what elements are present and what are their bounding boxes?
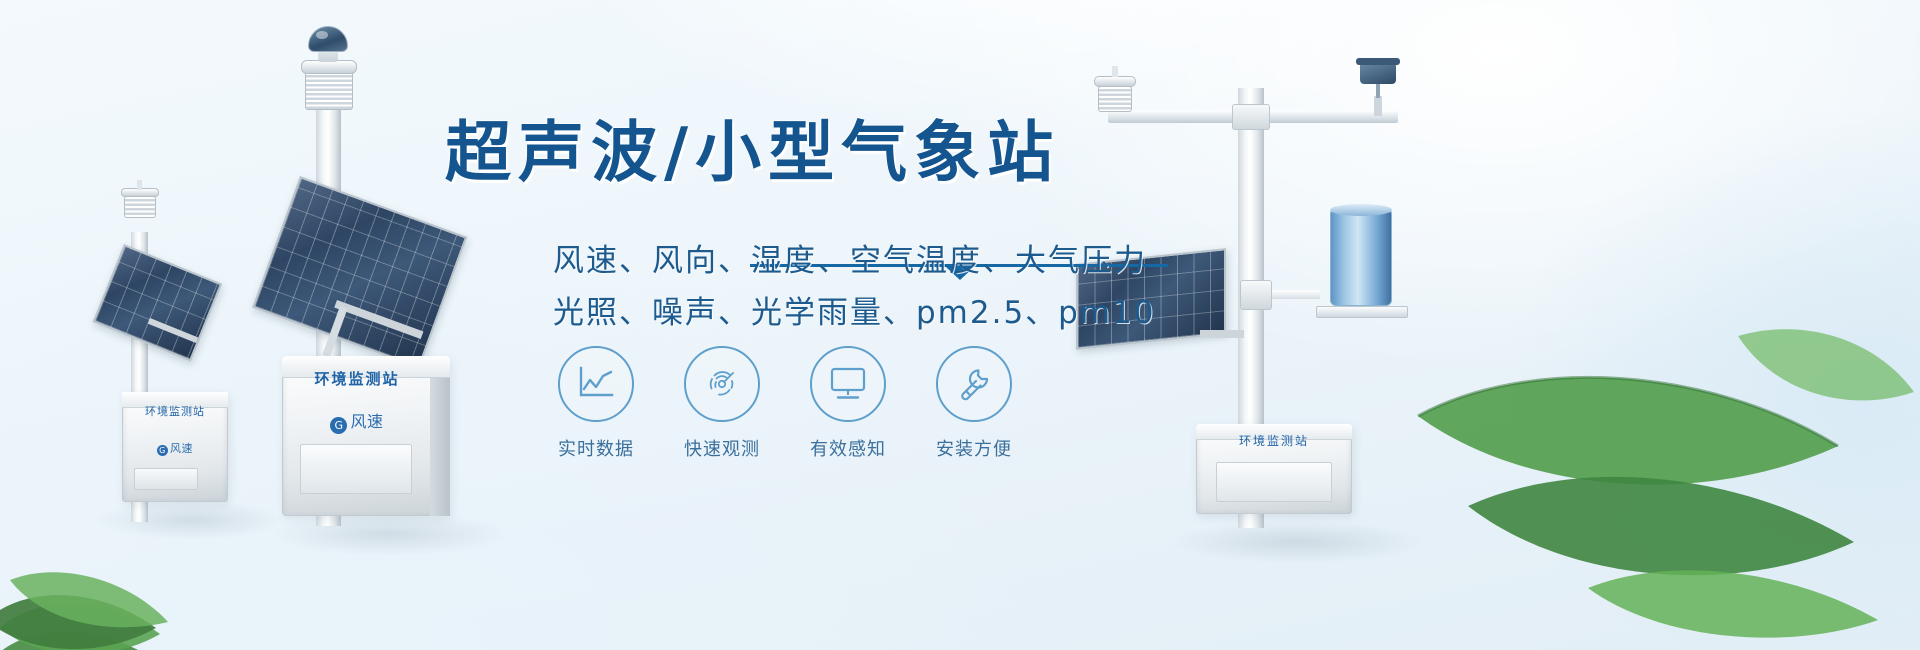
subtitle-line-2: 光照、噪声、光学雨量、pm2.5、pm10: [553, 287, 1156, 332]
line-chart-icon: [576, 365, 616, 403]
feature-item-effective-sensing[interactable]: 有效感知: [805, 346, 891, 466]
feature-icon-circle: [936, 346, 1012, 422]
feature-list: 实时数据: [553, 346, 1023, 466]
feature-item-fast-observation[interactable]: 快速观测: [679, 346, 765, 466]
feature-label: 实时数据: [558, 435, 634, 461]
feature-icon-circle: [684, 346, 760, 422]
monitor-icon: [827, 366, 869, 402]
content-column: 超声波/小型气象站 风速、风向、湿度、空气温度、大气压力 光照、噪声、光学雨量、…: [0, 0, 1920, 650]
feature-label: 快速观测: [684, 435, 760, 461]
page-title: 超声波/小型气象站: [445, 112, 1125, 192]
subtitle-line-1: 风速、风向、湿度、空气温度、大气压力: [553, 235, 1147, 280]
feature-item-realtime-data[interactable]: 实时数据: [553, 346, 639, 466]
radar-observation-icon: [702, 364, 742, 404]
feature-item-easy-install[interactable]: 安装方便: [931, 346, 1017, 466]
wrench-icon: [954, 364, 994, 404]
feature-icon-circle: [810, 346, 886, 422]
product-banner: 环境监测站 G风速 环境监测站 G风速: [0, 0, 1920, 650]
feature-label: 有效感知: [810, 435, 886, 461]
feature-icon-circle: [558, 346, 634, 422]
feature-label: 安装方便: [936, 435, 1012, 461]
